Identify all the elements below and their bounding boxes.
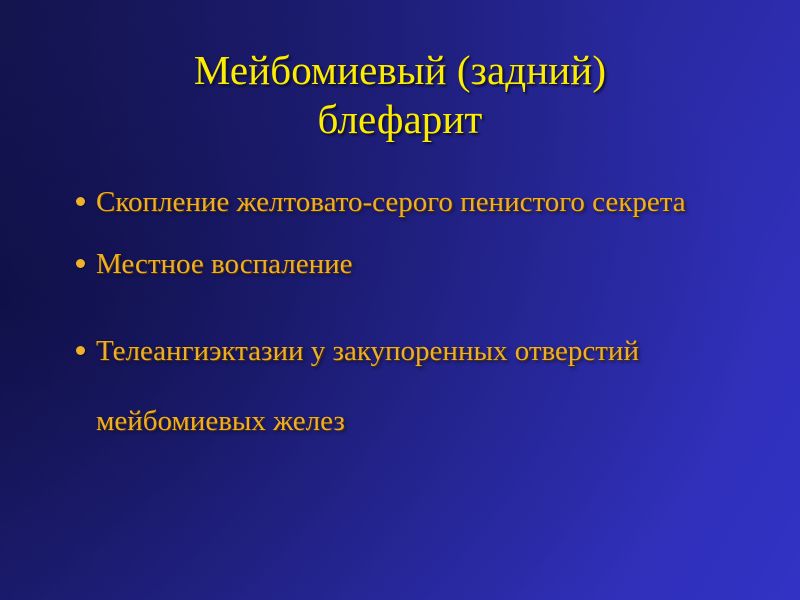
bullet-dot-icon [76,346,85,355]
bullet-dot-icon [76,197,85,206]
bullet-item-label: Телеангиэктазии у закупоренных отверстий… [96,316,656,456]
bullet-item: Местное воспаление [0,242,800,286]
bullet-item-label: Местное воспаление [96,242,770,286]
slide-title-line-2: блефарит [0,95,800,144]
bullet-item: Скопление желтовато-серого пенистого сек… [0,178,800,226]
slide-title-line-1: Мейбомиевый (задний) [0,46,800,95]
presentation-slide: Мейбомиевый (задний) блефарит Скопление … [0,0,800,600]
slide-title: Мейбомиевый (задний) блефарит [0,46,800,144]
bullet-item: Телеангиэктазии у закупоренных отверстий… [0,316,800,456]
slide-bullet-list: Скопление желтовато-серого пенистого сек… [0,178,800,456]
bullet-item-label: Скопление желтовато-серого пенистого сек… [96,178,716,226]
bullet-dot-icon [76,259,85,268]
